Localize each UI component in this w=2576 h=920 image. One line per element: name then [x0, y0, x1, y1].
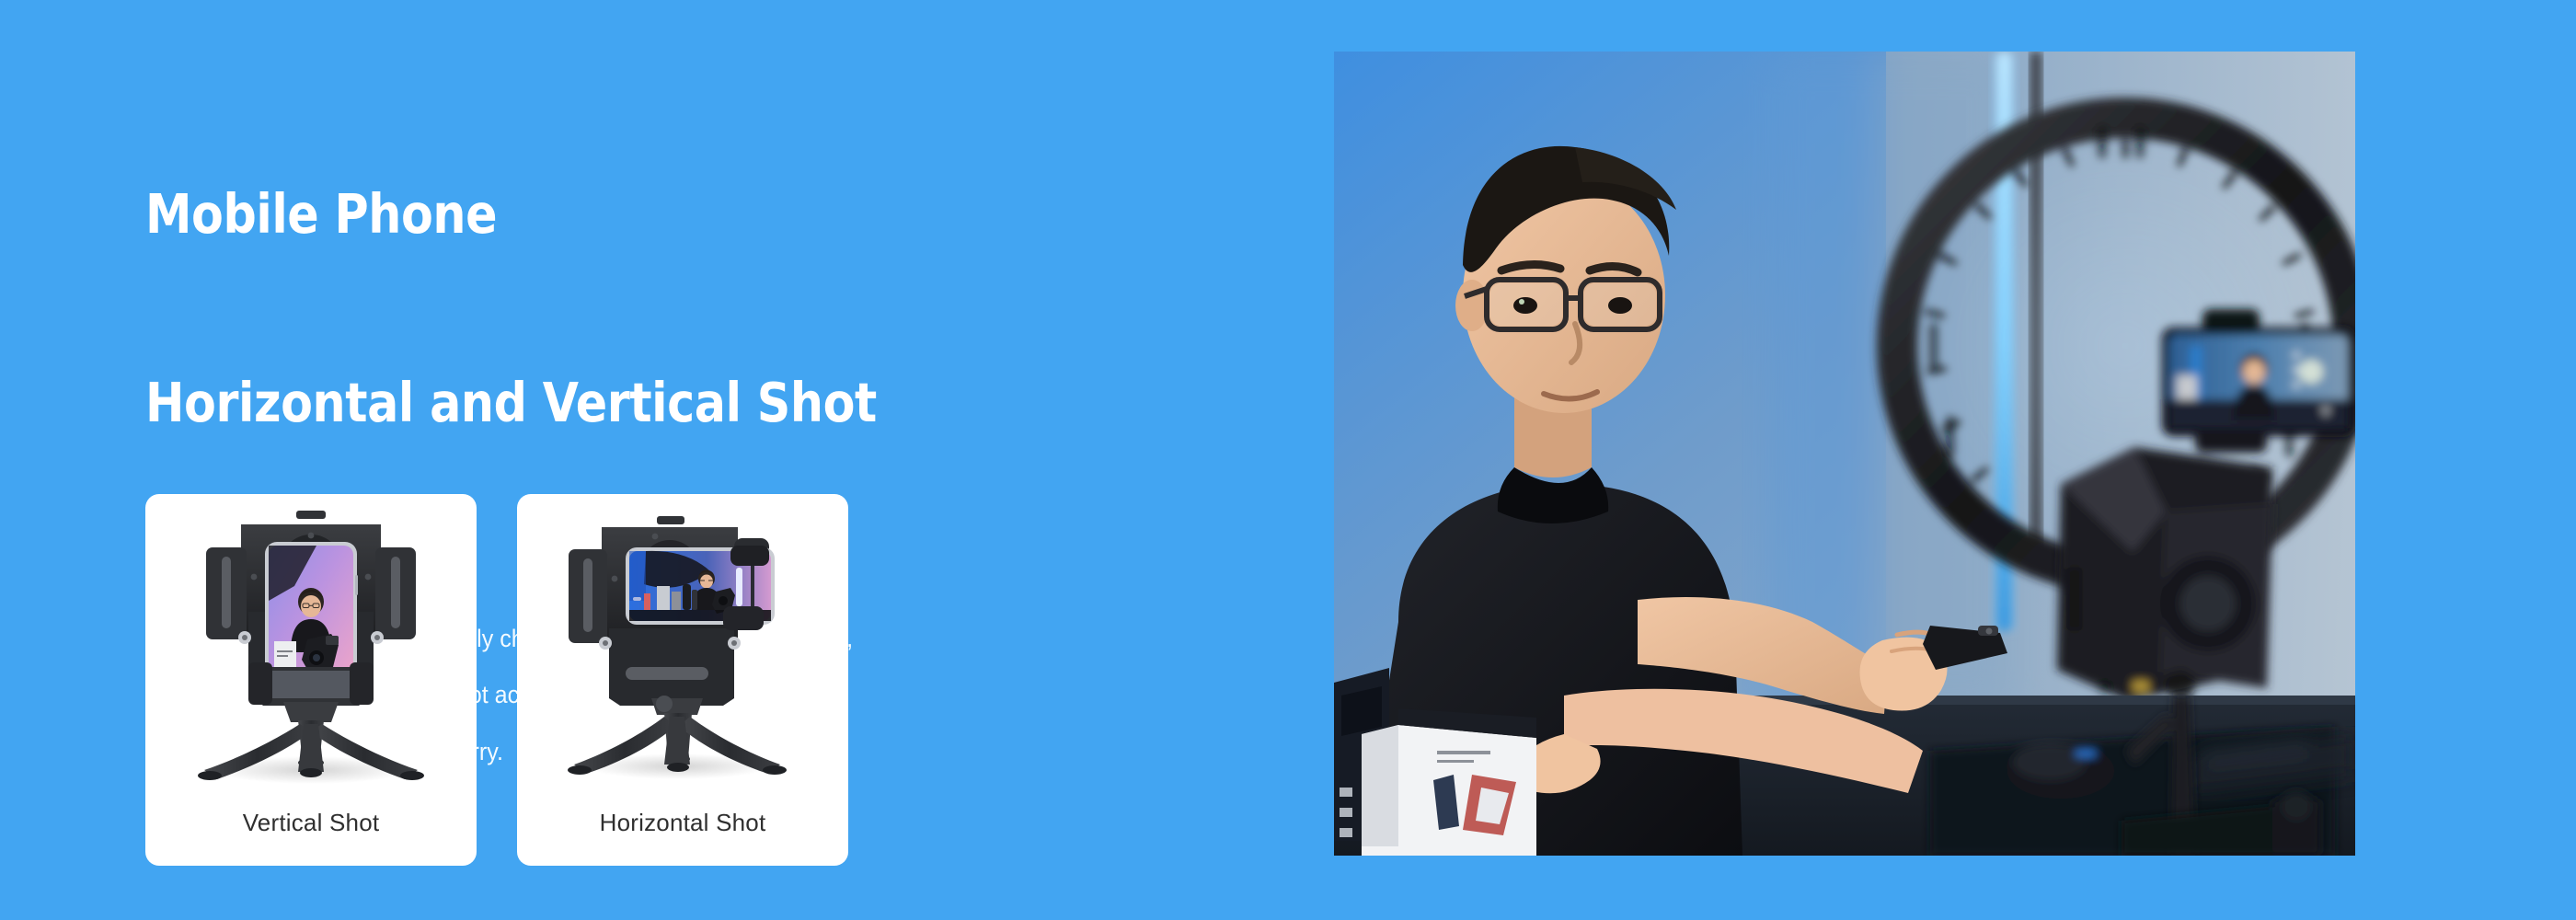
feature-card-label: Horizontal Shot — [517, 809, 848, 866]
hero-photo — [1334, 52, 2355, 856]
studio-scene-image — [1334, 52, 2355, 856]
page-title-line-1: Mobile Phone — [145, 183, 1095, 246]
horizontal-shot-illustration — [517, 494, 848, 809]
feature-card-label: Vertical Shot — [145, 809, 477, 866]
feature-card-horizontal-shot[interactable]: Horizontal Shot — [517, 494, 848, 866]
tripod-phone-mount-horizontal-icon — [517, 494, 848, 809]
vertical-shot-illustration — [145, 494, 477, 809]
page-title-line-2: Horizontal and Vertical Shot — [145, 372, 1095, 434]
feature-card-list: Vertical Shot — [145, 494, 848, 866]
feature-card-vertical-shot[interactable]: Vertical Shot — [145, 494, 477, 866]
tripod-phone-mount-vertical-icon — [145, 494, 477, 809]
page-title: Mobile Phone Horizontal and Vertical Sho… — [145, 57, 1095, 561]
